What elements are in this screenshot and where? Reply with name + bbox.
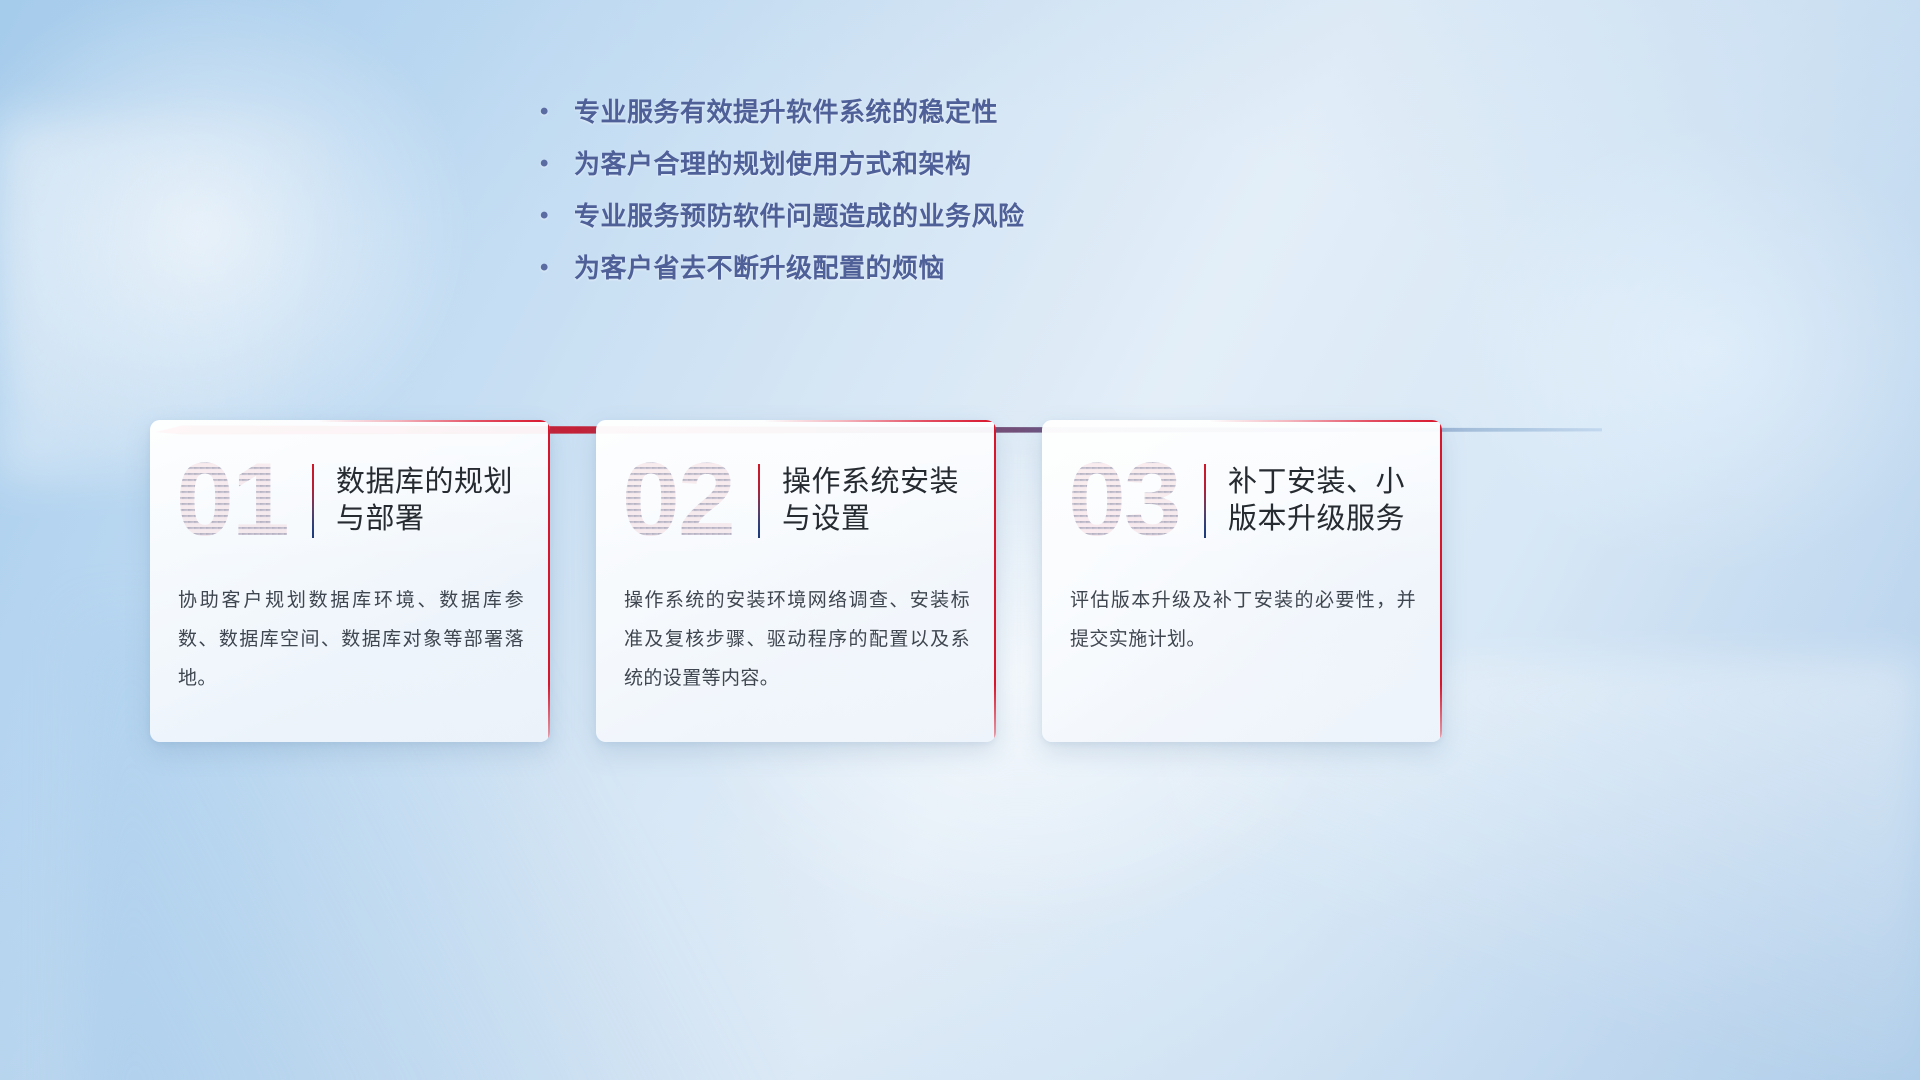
list-item: • 专业服务预防软件问题造成的业务风险 <box>540 196 1160 248</box>
bullet-dot-icon: • <box>540 204 574 228</box>
card-top-accent <box>596 420 996 422</box>
bullet-dot-icon: • <box>540 152 574 176</box>
list-item-label: 为客户省去不断升级配置的烦恼 <box>574 248 945 285</box>
list-item-label: 为客户合理的规划使用方式和架构 <box>574 144 972 181</box>
bullet-dot-icon: • <box>540 100 574 124</box>
list-item-label: 专业服务有效提升软件系统的稳定性 <box>574 92 998 129</box>
card-number-watermark: 03 <box>1068 449 1196 553</box>
list-item: • 为客户合理的规划使用方式和架构 <box>540 144 1160 196</box>
benefits-bullet-list: • 专业服务有效提升软件系统的稳定性 • 为客户合理的规划使用方式和架构 • 专… <box>540 92 1160 300</box>
list-item: • 专业服务有效提升软件系统的稳定性 <box>540 92 1160 144</box>
list-item-label: 专业服务预防软件问题造成的业务风险 <box>574 196 1025 233</box>
card-top-accent <box>150 420 550 422</box>
card-title-rule <box>758 464 760 538</box>
card-description: 操作系统的安装环境网络调查、安装标准及复核步骤、驱动程序的配置以及系统的设置等内… <box>624 582 970 699</box>
card-description: 协助客户规划数据库环境、数据库参数、数据库空间、数据库对象等部署落地。 <box>178 582 524 699</box>
card-top-accent <box>1042 420 1442 422</box>
service-card-01[interactable]: 01 数据库的规划 与部署 协助客户规划数据库环境、数据库参数、数据库空间、数据… <box>150 420 550 742</box>
card-title: 数据库的规划 与部署 <box>336 464 513 538</box>
card-title-rule <box>312 464 314 538</box>
bullet-dot-icon: • <box>540 256 574 280</box>
list-item: • 为客户省去不断升级配置的烦恼 <box>540 248 1160 300</box>
card-header: 03 补丁安装、小 版本升级服务 <box>1042 442 1442 560</box>
card-header: 02 操作系统安装 与设置 <box>596 442 996 560</box>
card-title-rule <box>1204 464 1206 538</box>
service-card-03[interactable]: 03 补丁安装、小 版本升级服务 评估版本升级及补丁安装的必要性，并提交实施计划… <box>1042 420 1442 742</box>
card-header: 01 数据库的规划 与部署 <box>150 442 550 560</box>
card-number-watermark: 01 <box>176 449 304 553</box>
card-number-watermark: 02 <box>622 449 750 553</box>
service-card-grid: 01 数据库的规划 与部署 协助客户规划数据库环境、数据库参数、数据库空间、数据… <box>150 420 1770 900</box>
card-title: 操作系统安装 与设置 <box>782 464 959 538</box>
card-description: 评估版本升级及补丁安装的必要性，并提交实施计划。 <box>1070 582 1416 660</box>
service-card-02[interactable]: 02 操作系统安装 与设置 操作系统的安装环境网络调查、安装标准及复核步骤、驱动… <box>596 420 996 742</box>
card-title: 补丁安装、小 版本升级服务 <box>1228 464 1405 538</box>
